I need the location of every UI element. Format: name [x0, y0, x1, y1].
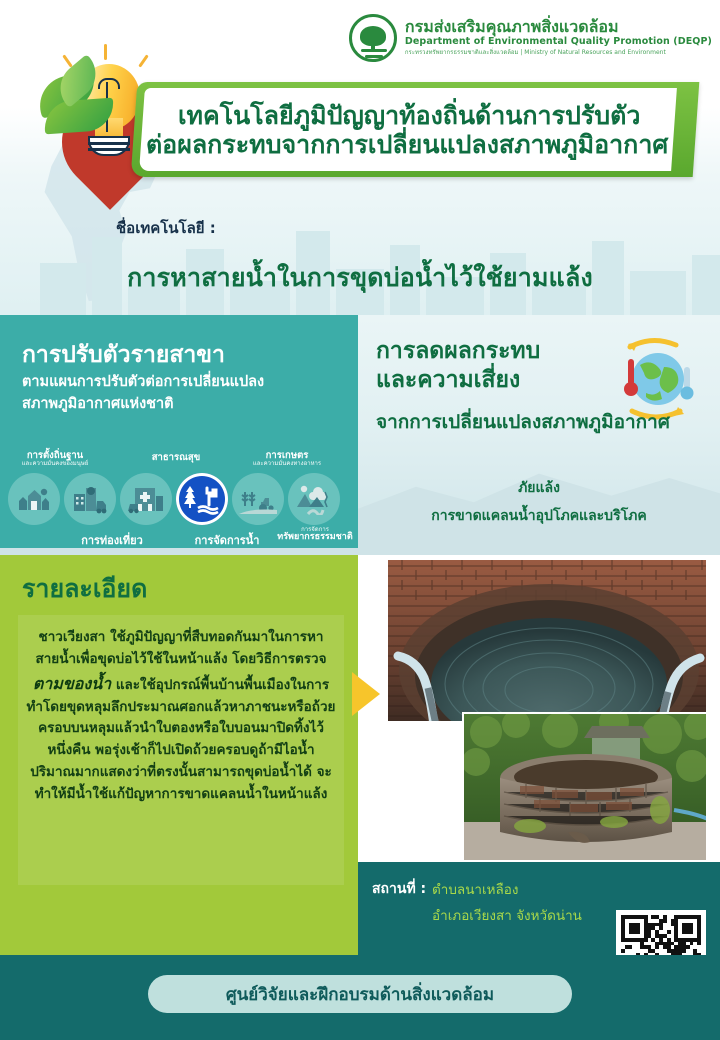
- hill-decoration: [358, 445, 720, 555]
- poster-title-line1: เทคโนโลยีภูมิปัญญาท้องถิ่นด้านการปรับตัว: [178, 101, 640, 130]
- panel-divider: [0, 548, 358, 555]
- well-interior-photo: [386, 558, 708, 723]
- risk-item-drought: ภัยแล้ง: [358, 477, 720, 499]
- department-name-en: Department of Environmental Quality Prom…: [405, 36, 712, 47]
- sector-icon-tourism-city-car-icon[interactable]: [64, 473, 116, 525]
- risk-item-water-shortage: การขาดแคลนน้ำอุปโภคและบริโภค: [358, 505, 720, 527]
- technology-name: การหาสายน้ำในการขุดบ่อน้ำไว้ใช้ยามแล้ง: [0, 258, 720, 298]
- sector-label-agriculture: การเกษตร และความมั่นคงทางอาหาร: [228, 451, 346, 467]
- sector-icon-settlement-houses-icon[interactable]: [8, 473, 60, 525]
- sector-label-natural-resources: การจัดการ ทรัพยากรธรรมชาติ: [272, 527, 358, 543]
- detail-panel-title: รายละเอียด: [22, 569, 147, 609]
- sector-icon-public-health-hospital-icon[interactable]: [120, 473, 172, 525]
- sector-label-settlement: การตั้งถิ่นฐาน และความมั่นคงของมนุษย์: [2, 451, 108, 467]
- impact-title-line1: การลดผลกระทบ: [376, 338, 540, 364]
- header-band: กรมส่งเสริมคุณภาพสิ่งแวดล้อม Department …: [0, 0, 720, 315]
- detail-text-before: ชาวเวียงสา ใช้ภูมิปัญญาที่สืบทอดกันมาในก…: [35, 629, 326, 667]
- adaptation-subtitle-line1: ตามแผนการปรับตัวต่อการเปลี่ยนแปลง: [22, 374, 264, 390]
- sector-label-tourism: การท่องเที่ยว: [58, 535, 166, 547]
- department-name-th: กรมส่งเสริมคุณภาพสิ่งแวดล้อม: [405, 19, 712, 36]
- tree-water-seal-icon: [349, 14, 397, 62]
- sector-icon-strip: การตั้งถิ่นฐาน และความมั่นคงของมนุษย์ สา…: [0, 451, 358, 555]
- technology-label: ชื่อเทคโนโลยี :: [116, 216, 216, 240]
- sector-label-water-management: การจัดการน้ำ: [176, 535, 278, 547]
- impact-risk-panel: การลดผลกระทบ และความเสี่ยง จากการเปลี่ยน…: [358, 315, 720, 555]
- sector-icon-agriculture-tractor-icon[interactable]: [232, 473, 284, 525]
- adaptation-panel-title: การปรับตัวรายสาขา: [22, 337, 225, 373]
- title-ribbon: เทคโนโลยีภูมิปัญญาท้องถิ่นด้านการปรับตัว…: [131, 82, 700, 177]
- sector-icon-natural-resources-mountain-icon[interactable]: [288, 473, 340, 525]
- location-line1: ตำบลนาเหลือง: [432, 878, 518, 900]
- detail-body: ชาวเวียงสา ใช้ภูมิปัญญาที่สืบทอดกันมาในก…: [18, 615, 344, 885]
- location-line2: อำเภอเวียงสา จังหวัดน่าน: [432, 904, 582, 926]
- footer-organization-pill: ศูนย์วิจัยและฝึกอบรมด้านสิ่งแวดล้อม: [148, 975, 572, 1013]
- well-exterior-photo: [462, 712, 708, 862]
- poster-root: กรมส่งเสริมคุณภาพสิ่งแวดล้อม Department …: [0, 0, 720, 1040]
- footer-organization-text: ศูนย์วิจัยและฝึกอบรมด้านสิ่งแวดล้อม: [226, 981, 494, 1008]
- department-logo: กรมส่งเสริมคุณภาพสิ่งแวดล้อม Department …: [349, 14, 712, 62]
- impact-panel-subtitle: จากการเปลี่ยนแปลงสภาพภูมิอากาศ: [376, 407, 670, 437]
- detail-panel: รายละเอียด ชาวเวียงสา ใช้ภูมิปัญญาที่สืบ…: [0, 555, 358, 955]
- adaptation-sector-panel: การปรับตัวรายสาขา ตามแผนการปรับตัวต่อการ…: [0, 315, 358, 555]
- arrow-right-icon: [352, 672, 380, 716]
- sector-icon-water-management-tap-icon[interactable]: [176, 473, 228, 525]
- poster-title-line2: ต่อผลกระทบจากการเปลี่ยนแปลงสภาพภูมิอากาศ: [146, 130, 668, 159]
- sector-label-public-health: สาธารณสุข: [128, 453, 224, 463]
- ministry-name: กระทรวงทรัพยากรธรรมชาติและสิ่งแวดล้อม | …: [405, 47, 712, 57]
- impact-title-line2: และความเสี่ยง: [376, 367, 520, 393]
- location-label: สถานที่ :: [372, 878, 426, 900]
- adaptation-subtitle-line2: สภาพภูมิอากาศแห่งชาติ: [22, 396, 174, 412]
- detail-text-after: และใช้อุปกรณ์พื้นบ้านพื้นเมืองในการทำโดย…: [27, 677, 336, 802]
- impact-panel-title: การลดผลกระทบ และความเสี่ยง: [376, 337, 540, 395]
- adaptation-panel-subtitle: ตามแผนการปรับตัวต่อการเปลี่ยนแปลง สภาพภู…: [22, 371, 342, 416]
- detail-text-highlight: ตามของน้ำ: [33, 674, 111, 693]
